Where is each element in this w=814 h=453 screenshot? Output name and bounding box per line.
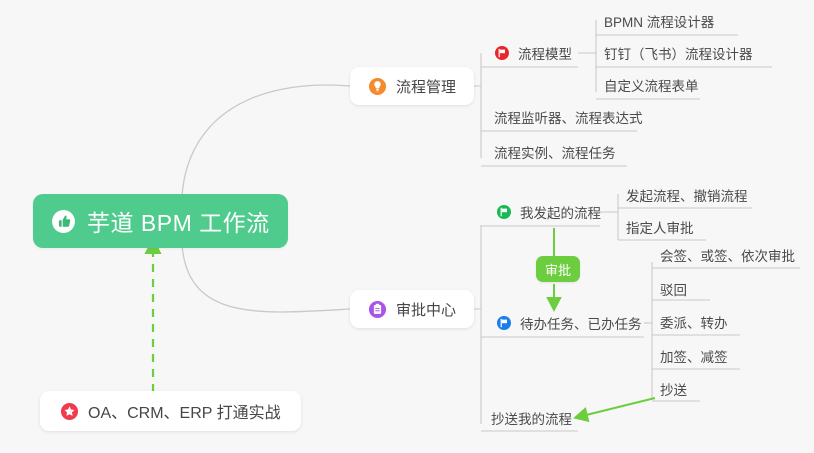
node-label: 我发起的流程 (520, 202, 601, 222)
node-start-cancel-process[interactable]: 发起流程、撤销流程 (622, 181, 754, 209)
branch-label: 审批中心 (396, 299, 456, 320)
node-my-initiated-process[interactable]: 我发起的流程 (492, 198, 607, 226)
flag-icon (494, 45, 510, 61)
node-label: 驳回 (660, 279, 687, 299)
node-label: 抄送我的流程 (491, 408, 572, 428)
approval-badge: 审批 (536, 256, 580, 282)
node-label: 发起流程、撤销流程 (626, 185, 748, 205)
root-node[interactable]: 芋道 BPM 工作流 (33, 194, 288, 248)
node-todo-done-task[interactable]: 待办任务、已办任务 (492, 309, 648, 337)
branch-process-management[interactable]: 流程管理 (350, 67, 474, 105)
flag-icon (496, 315, 512, 331)
branch-label: 流程管理 (396, 76, 456, 97)
flag-icon (496, 204, 512, 220)
node-cc-to-me-process[interactable]: 抄送我的流程 (487, 404, 578, 432)
lightbulb-icon (368, 77, 387, 96)
node-label: 流程模型 (518, 43, 572, 63)
star-icon (60, 402, 79, 421)
mindmap-canvas: 芋道 BPM 工作流 流程管理 流程模型 BPMN 流程设计器 钉钉（飞书）流程 (0, 0, 814, 453)
node-cc[interactable]: 抄送 (656, 375, 693, 403)
node-bpmn-designer[interactable]: BPMN 流程设计器 (600, 7, 720, 35)
node-label: 抄送 (660, 379, 687, 399)
node-integration-practice[interactable]: OA、CRM、ERP 打通实战 (40, 391, 301, 431)
node-label: 钉钉（飞书）流程设计器 (604, 43, 753, 63)
node-label: 流程实例、流程任务 (494, 142, 616, 162)
node-dingtalk-feishu-designer[interactable]: 钉钉（飞书）流程设计器 (600, 39, 759, 67)
node-delegate-transfer[interactable]: 委派、转办 (656, 308, 734, 336)
approval-badge-label: 审批 (545, 260, 571, 279)
node-label: BPMN 流程设计器 (604, 11, 714, 31)
node-label: 会签、或签、依次审批 (660, 245, 795, 265)
node-label: 指定人审批 (626, 217, 694, 237)
node-assignee-approval[interactable]: 指定人审批 (622, 213, 700, 241)
node-label: 委派、转办 (660, 312, 728, 332)
node-label: 流程监听器、流程表达式 (494, 107, 643, 127)
node-countersign-orsign-sequential[interactable]: 会签、或签、依次审批 (656, 241, 801, 269)
node-process-instance-task[interactable]: 流程实例、流程任务 (490, 138, 622, 166)
node-label: 自定义流程表单 (604, 75, 699, 95)
node-label: OA、CRM、ERP 打通实战 (88, 399, 281, 423)
clipboard-icon (368, 300, 387, 319)
node-label: 待办任务、已办任务 (520, 313, 642, 333)
node-label: 加签、减签 (660, 346, 728, 366)
node-process-listener-expression[interactable]: 流程监听器、流程表达式 (490, 103, 649, 131)
thumbs-up-icon (51, 209, 76, 234)
root-label: 芋道 BPM 工作流 (87, 204, 270, 238)
node-add-remove-sign[interactable]: 加签、减签 (656, 342, 734, 370)
node-process-model[interactable]: 流程模型 (490, 39, 578, 67)
node-reject[interactable]: 驳回 (656, 275, 693, 303)
branch-approval-center[interactable]: 审批中心 (350, 290, 474, 328)
node-custom-process-form[interactable]: 自定义流程表单 (600, 71, 705, 99)
